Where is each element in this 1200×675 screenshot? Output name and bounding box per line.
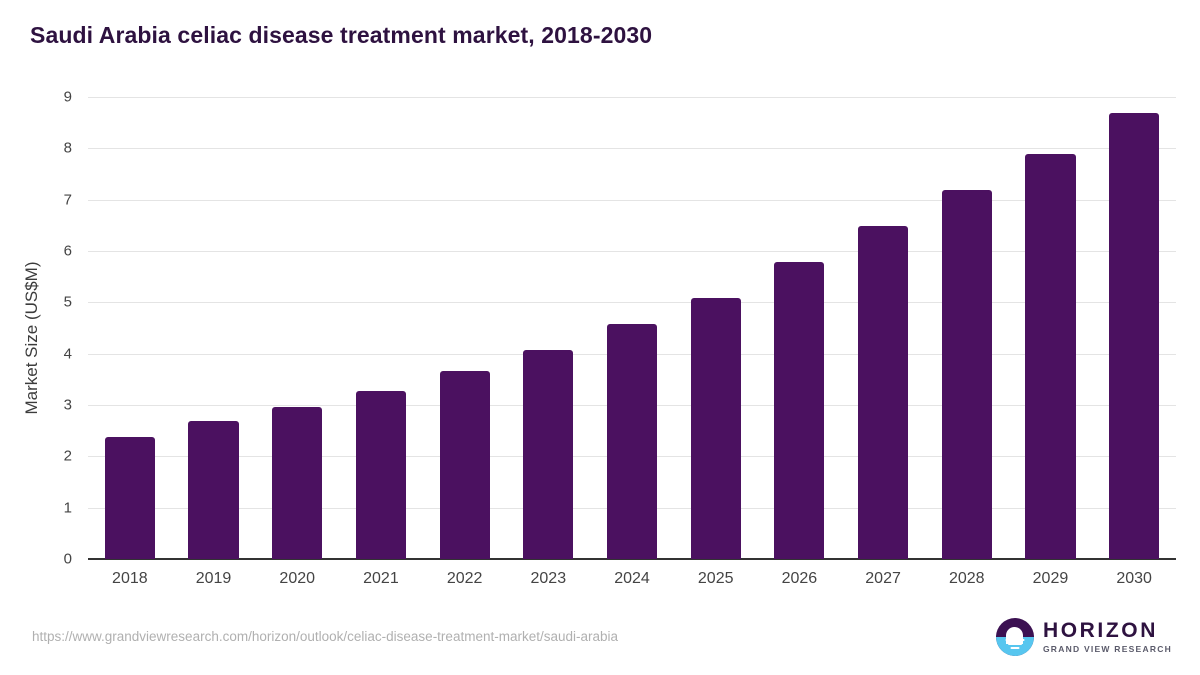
x-axis-tick-label: 2030 (1116, 570, 1152, 588)
x-axis-tick-label: 2026 (782, 570, 818, 588)
x-axis-tick-label: 2020 (279, 570, 315, 588)
source-url[interactable]: https://www.grandviewresearch.com/horizo… (32, 629, 618, 644)
chart-page: Saudi Arabia celiac disease treatment ma… (0, 0, 1200, 675)
x-axis-tick-label: 2025 (698, 570, 734, 588)
x-axis-tick-label: 2018 (112, 570, 148, 588)
x-axis-tick-label: 2019 (196, 570, 232, 588)
x-axis-tick-label: 2029 (1033, 570, 1069, 588)
horizon-logo: HORIZON GRAND VIEW RESEARCH (996, 618, 1172, 656)
x-axis-ticks: 2018201920202021202220232024202520262027… (0, 0, 1200, 675)
x-axis-tick-label: 2027 (865, 570, 901, 588)
x-axis-tick-label: 2022 (447, 570, 483, 588)
x-axis-tick-label: 2021 (363, 570, 399, 588)
x-axis-tick-label: 2024 (614, 570, 650, 588)
horizon-logo-icon (996, 618, 1034, 656)
chart-plot-area: Market Size (US$M) 0123456789 2018201920… (0, 0, 1200, 675)
logo-tagline: GRAND VIEW RESEARCH (1043, 645, 1172, 654)
logo-wordmark: HORIZON (1043, 620, 1172, 641)
x-axis-tick-label: 2028 (949, 570, 985, 588)
x-axis-tick-label: 2023 (531, 570, 567, 588)
